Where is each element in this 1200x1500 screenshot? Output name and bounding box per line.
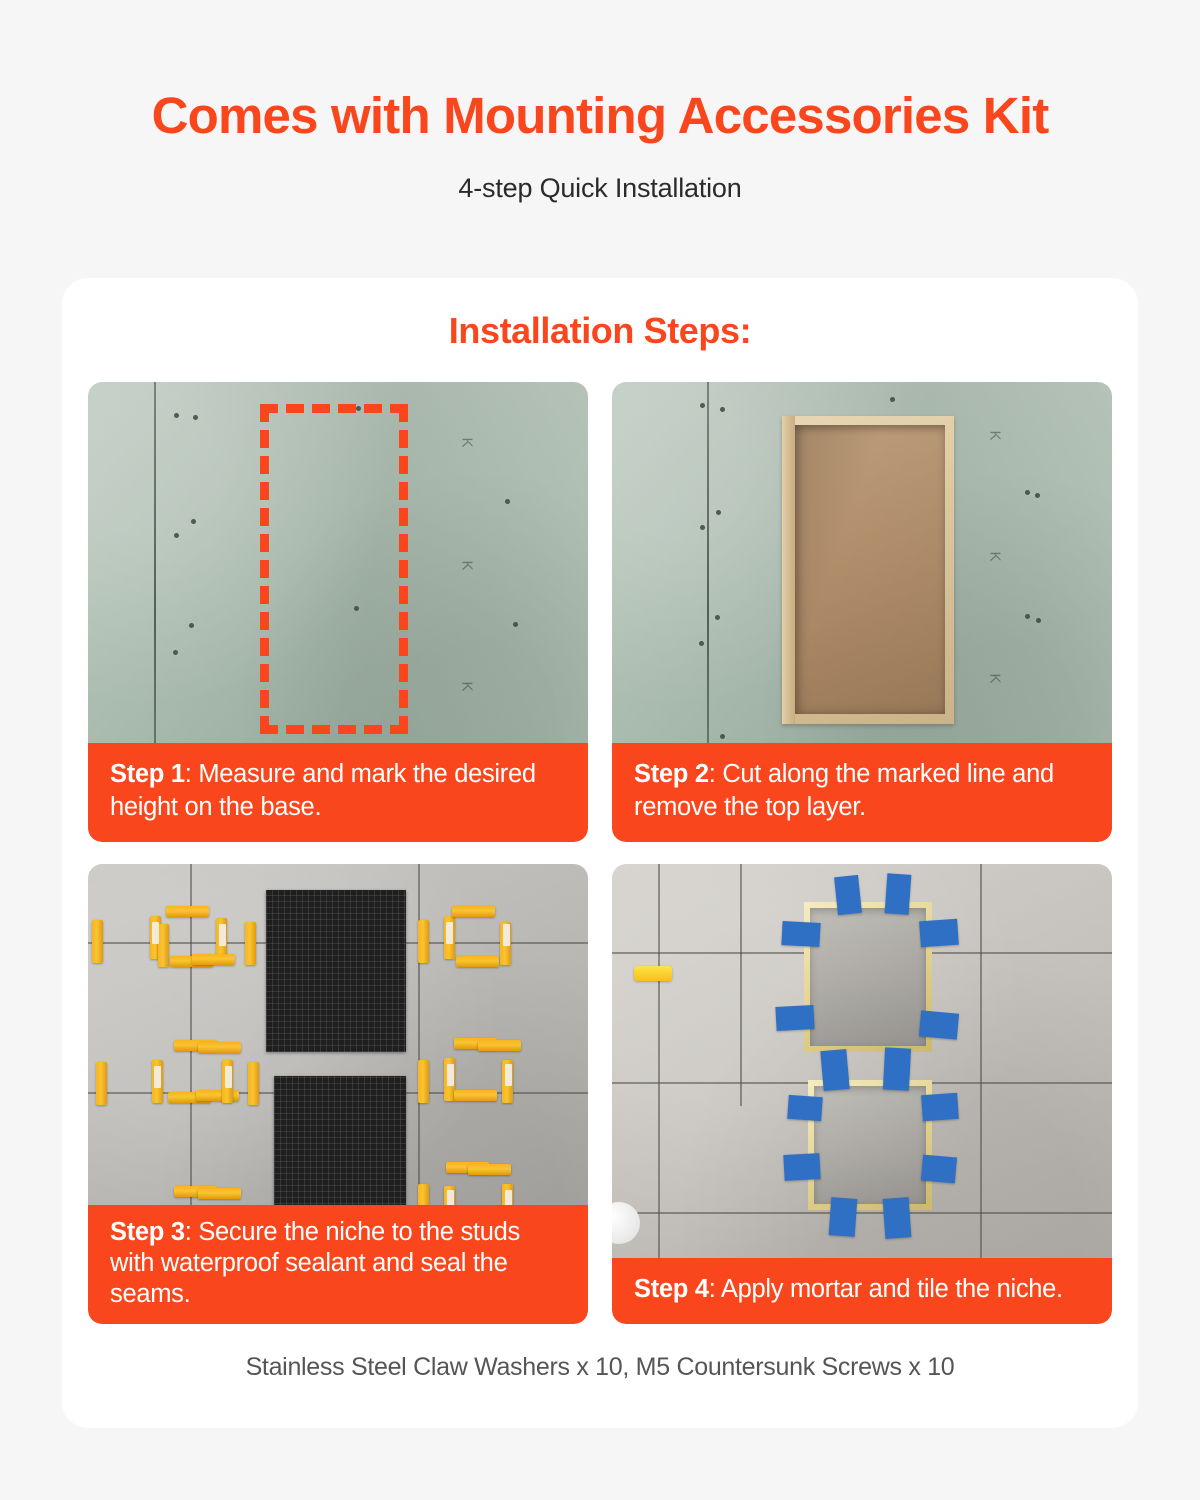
painters-tape [783, 1153, 820, 1181]
leveling-wedge [198, 1042, 241, 1053]
painters-tape [919, 919, 959, 948]
leveling-wedge [92, 920, 103, 963]
painters-tape [921, 1093, 959, 1121]
leveling-wedge [456, 956, 499, 967]
step-card-2: K K K Step 2: Cut along the marked line … [612, 382, 1112, 842]
leveling-clip [446, 922, 453, 944]
stamp-mark-icon: K [987, 673, 1004, 683]
screw-dot [189, 623, 194, 628]
leveling-wedge [248, 1062, 259, 1105]
leveling-wedge [468, 1164, 511, 1175]
screw-dot [720, 734, 725, 739]
leveling-wedge [96, 1062, 107, 1105]
painters-tape [787, 1095, 823, 1121]
step-4-separator: : [709, 1275, 721, 1303]
step-3-label: Step 3 [110, 1218, 185, 1246]
installation-card: Installation Steps: K [62, 278, 1138, 1428]
tiled-niche-lower [808, 1080, 932, 1210]
step-1-caption: Step 1: Measure and mark the desired hei… [88, 743, 588, 842]
leveling-clip [219, 924, 226, 946]
screw-dot [1025, 490, 1030, 495]
leveling-clip [503, 924, 510, 946]
leveling-clip [447, 1064, 454, 1086]
leveling-wedge [454, 1090, 497, 1101]
screw-dot [716, 510, 721, 515]
grout-line [980, 864, 982, 1324]
tiled-niche-upper [804, 902, 932, 1052]
page-subtitle: 4-step Quick Installation [0, 173, 1200, 204]
cut-opening-frame [782, 416, 954, 724]
niche-mesh-panel [266, 890, 406, 1052]
painters-tape [775, 1005, 814, 1031]
screw-dot [505, 499, 510, 504]
painters-tape [829, 1197, 858, 1237]
marking-rectangle [260, 404, 408, 734]
painters-tape [885, 873, 912, 915]
grout-line [740, 864, 742, 1106]
leveling-wedge [245, 922, 256, 965]
card-title: Installation Steps: [62, 278, 1138, 352]
leveling-wedge [418, 920, 429, 963]
screw-dot [174, 413, 179, 418]
leveling-wedge [452, 906, 495, 917]
stamp-mark-icon: K [987, 430, 1004, 440]
painters-tape [834, 875, 862, 915]
step-1-separator: : [185, 760, 199, 788]
step-4-text: Apply mortar and tile the niche. [721, 1275, 1063, 1303]
step-2-separator: : [709, 760, 723, 788]
screw-dot [513, 622, 518, 627]
screw-dot [174, 533, 179, 538]
cut-opening-interior [793, 425, 945, 714]
screw-dot [191, 519, 196, 524]
step-4-caption: Step 4: Apply mortar and tile the niche. [612, 1258, 1112, 1324]
screw-dot [1025, 614, 1030, 619]
step-2-caption: Step 2: Cut along the marked line and re… [612, 743, 1112, 842]
painters-tape [820, 1049, 849, 1091]
leveling-clip [225, 1066, 232, 1088]
screw-dot [699, 641, 704, 646]
step-4-photo [612, 864, 1112, 1324]
painters-tape [883, 1197, 912, 1239]
leveling-clip [152, 922, 159, 944]
accessories-footer: Stainless Steel Claw Washers x 10, M5 Co… [62, 1353, 1138, 1382]
screw-dot [890, 397, 895, 402]
step-card-1: K K K Step 1: Measure and mark the desir… [88, 382, 588, 842]
cut-opening-sidewall [782, 416, 795, 724]
leveling-wedge [198, 1188, 241, 1199]
leveling-wedge [166, 906, 209, 917]
leveling-clip [505, 1064, 512, 1086]
painters-tape [781, 921, 820, 947]
stamp-mark-icon: K [459, 681, 476, 691]
painters-tape [919, 1010, 959, 1039]
leveling-wedge [192, 954, 235, 965]
step-2-label: Step 2 [634, 760, 709, 788]
screw-dot [173, 650, 178, 655]
leveling-clip [154, 1066, 161, 1088]
step-3-caption: Step 3: Secure the niche to the studs wi… [88, 1205, 588, 1324]
steps-grid: K K K Step 1: Measure and mark the desir… [88, 382, 1112, 1324]
screw-dot [720, 407, 725, 412]
painters-tape [921, 1155, 957, 1184]
screw-dot [1036, 618, 1041, 623]
stamp-mark-icon: K [459, 560, 476, 570]
screw-dot [700, 403, 705, 408]
stamp-mark-icon: K [987, 551, 1004, 561]
grout-line [658, 864, 660, 1324]
leveling-wedge [158, 924, 169, 967]
step-card-3: Step 3: Secure the niche to the studs wi… [88, 864, 588, 1324]
leveling-wedge [634, 966, 672, 981]
step-1-label: Step 1 [110, 760, 185, 788]
screw-dot [193, 415, 198, 420]
stamp-mark-icon: K [459, 437, 476, 447]
leveling-wedge [418, 1060, 429, 1103]
screw-dot [1035, 493, 1040, 498]
page-title: Comes with Mounting Accessories Kit [0, 88, 1200, 144]
infographic-page: Comes with Mounting Accessories Kit 4-st… [0, 0, 1200, 1500]
screw-dot [715, 615, 720, 620]
step-3-separator: : [185, 1218, 199, 1246]
step-4-label: Step 4 [634, 1275, 709, 1303]
painters-tape [883, 1047, 911, 1090]
grout-line [612, 1212, 1112, 1214]
step-card-4: Step 4: Apply mortar and tile the niche. [612, 864, 1112, 1324]
leveling-wedge [478, 1040, 521, 1051]
header: Comes with Mounting Accessories Kit 4-st… [0, 0, 1200, 204]
screw-dot [700, 525, 705, 530]
